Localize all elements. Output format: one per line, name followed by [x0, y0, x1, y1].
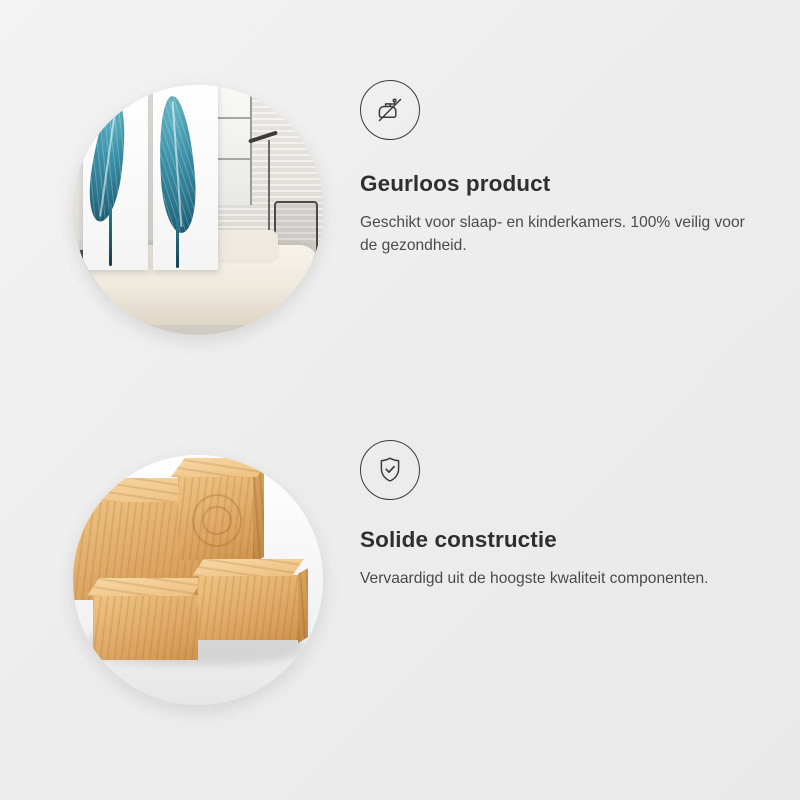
feather-stem — [109, 203, 112, 266]
block-side — [298, 568, 308, 643]
block-face — [198, 575, 298, 640]
wood-block-top-cube — [178, 475, 253, 560]
block-top — [87, 578, 204, 596]
feature-title: Geurloos product — [360, 172, 800, 197]
no-smell-spray-bottle-icon — [360, 80, 420, 140]
pillow-right — [218, 230, 278, 260]
feature-description: Vervaardigd uit de hoogste kwaliteit com… — [360, 567, 745, 591]
bed-blanket — [98, 288, 313, 326]
block-top — [192, 559, 303, 576]
wood-block-front-right — [198, 575, 298, 640]
shield-check-icon — [360, 440, 420, 500]
block-face — [178, 475, 253, 560]
feature-text-column: Solide constructie Vervaardigd uit de ho… — [323, 420, 800, 590]
growth-rings — [202, 506, 232, 536]
product-feature-page: Geurloos product Geschikt voor slaap- en… — [0, 0, 800, 800]
feather-graphic — [155, 95, 198, 234]
block-face — [93, 595, 198, 660]
feature-text-column: Geurloos product Geschikt voor slaap- en… — [323, 60, 800, 258]
feather-stem — [176, 218, 179, 268]
feature-block-odourless: Geurloos product Geschikt voor slaap- en… — [0, 60, 800, 390]
feature-description: Geschikt voor slaap- en kinderkamers. 10… — [360, 211, 745, 258]
wood-block-front-left — [93, 595, 198, 660]
canvas-panel-middle — [153, 85, 218, 270]
feature-image-feather-wall-art — [73, 85, 323, 335]
bedroom-scene — [73, 85, 323, 335]
block-top — [171, 458, 270, 477]
feature-title: Solide constructie — [360, 528, 800, 553]
floor-lamp-pole — [268, 140, 270, 240]
feature-block-solid-construction: Solide constructie Vervaardigd uit de ho… — [0, 420, 800, 750]
canvas-panel-left — [83, 85, 148, 270]
wooden-blocks-scene — [73, 455, 323, 705]
block-side — [253, 465, 264, 562]
feature-image-wooden-blocks — [73, 455, 323, 705]
